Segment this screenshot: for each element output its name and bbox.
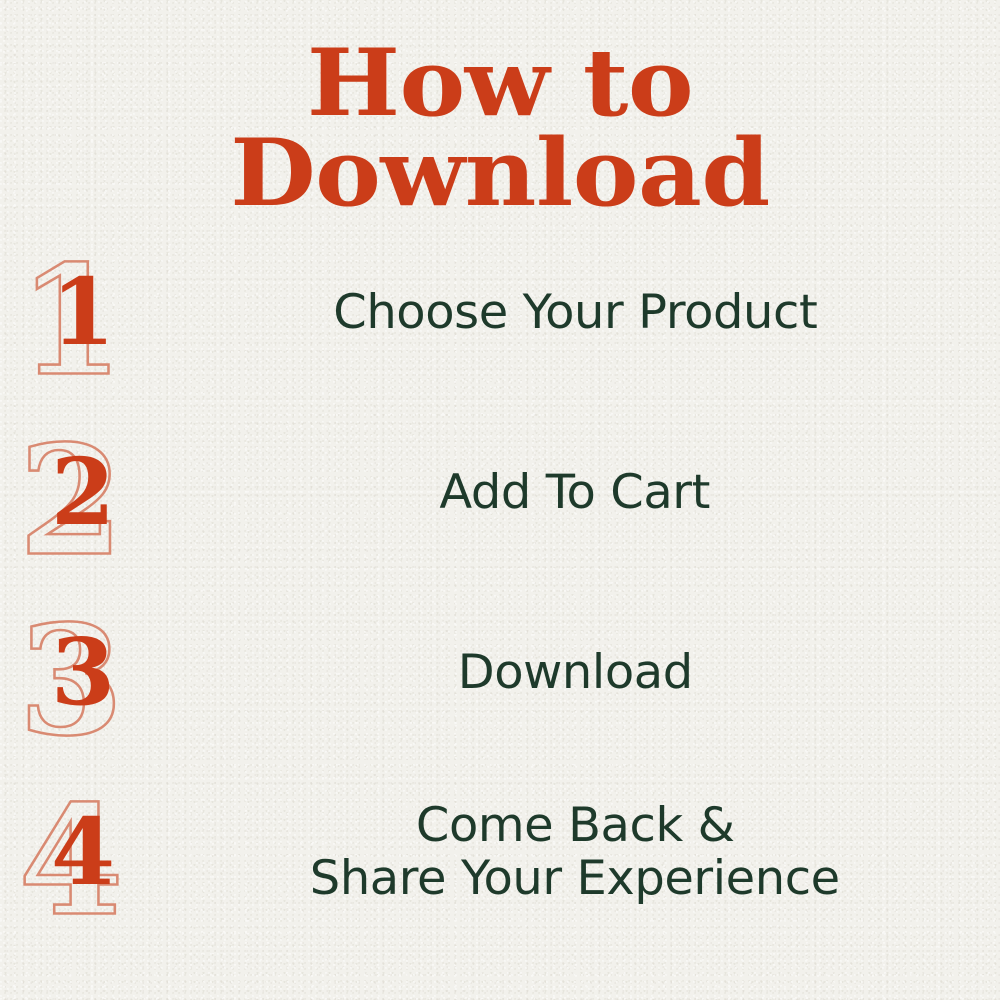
page-title-line-2: Download xyxy=(0,130,1000,216)
how-to-download-poster: How to Download 1 1 Choose Your Product … xyxy=(0,0,1000,1000)
page-title: How to Download xyxy=(0,40,1000,215)
steps-list: 1 1 Choose Your Product 2 2 Add To Cart … xyxy=(0,222,1000,942)
step-number-solid: 4 xyxy=(18,762,148,942)
step-number-solid: 1 xyxy=(18,222,148,402)
step-number-solid: 2 xyxy=(18,402,148,582)
step-number-solid: 3 xyxy=(18,582,148,762)
step-label-1: Choose Your Product xyxy=(150,222,1000,402)
step-label-4: Come Back & Share Your Experience xyxy=(150,762,1000,942)
step-item-2: 2 2 Add To Cart xyxy=(0,402,1000,582)
step-number-3: 3 3 xyxy=(18,582,148,762)
step-item-3: 3 3 Download xyxy=(0,582,1000,762)
step-label-2: Add To Cart xyxy=(150,402,1000,582)
step-label-line: Choose Your Product xyxy=(333,289,817,336)
step-label-3: Download xyxy=(150,582,1000,762)
step-item-1: 1 1 Choose Your Product xyxy=(0,222,1000,402)
step-item-4: 4 4 Come Back & Share Your Experience xyxy=(0,762,1000,942)
step-label-line: Share Your Experience xyxy=(310,855,840,902)
step-label-line: Add To Cart xyxy=(440,469,711,516)
step-number-2: 2 2 xyxy=(18,402,148,582)
step-label-line: Come Back & xyxy=(416,802,735,849)
page-title-line-1: How to xyxy=(0,40,1000,126)
step-number-4: 4 4 xyxy=(18,762,148,942)
step-label-line: Download xyxy=(457,649,692,696)
step-number-1: 1 1 xyxy=(18,222,148,402)
